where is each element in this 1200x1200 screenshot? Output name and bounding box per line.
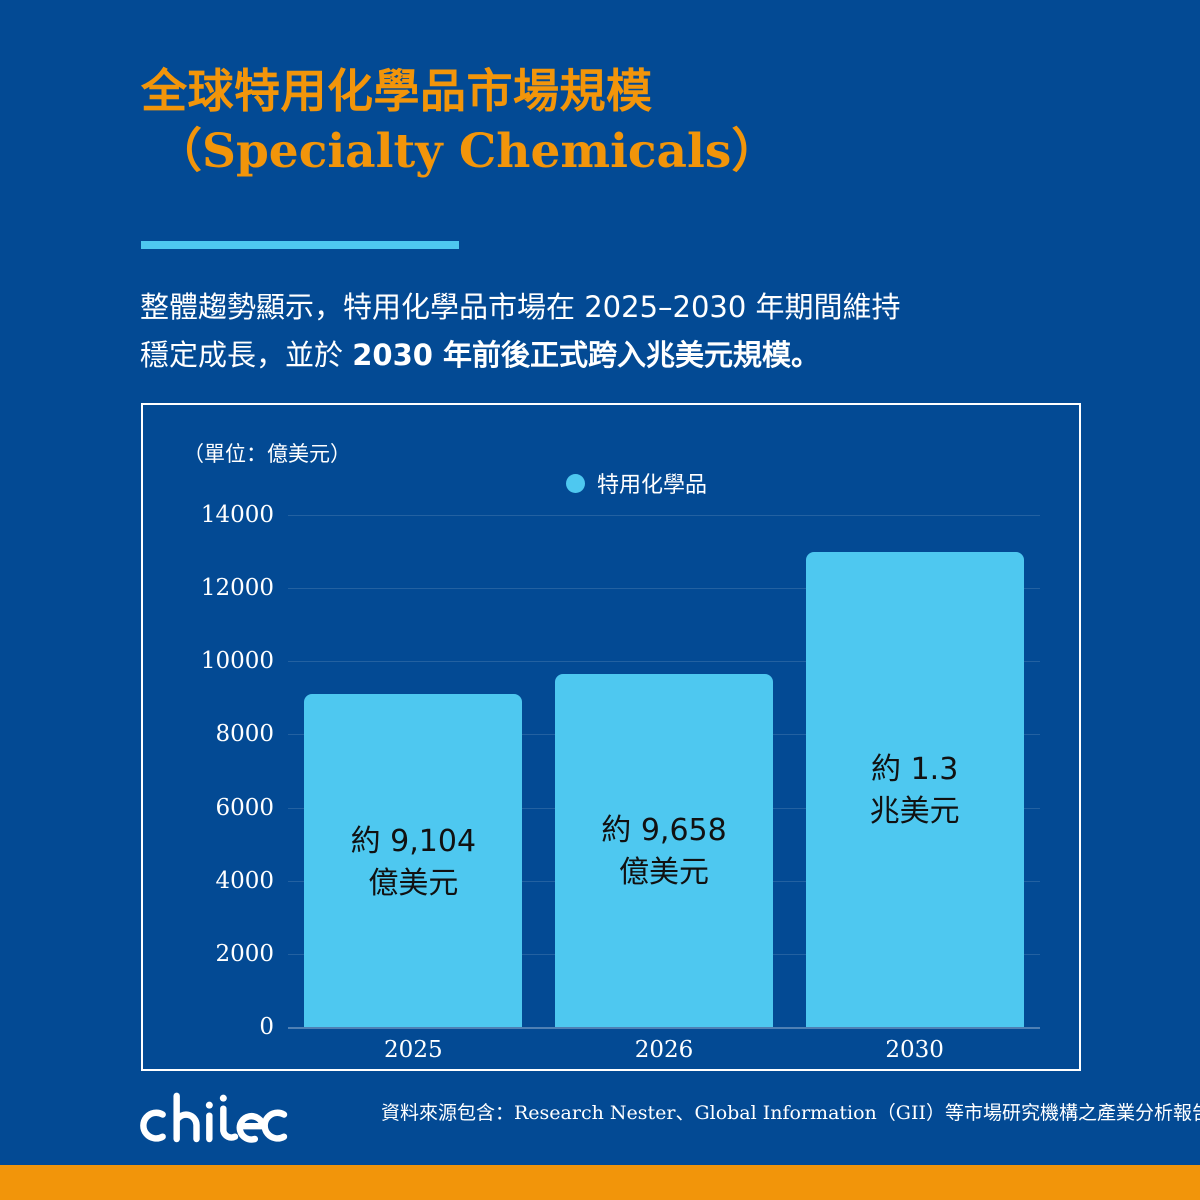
title-accent-rule	[141, 241, 459, 249]
y-axis-tick-label: 0	[259, 1014, 274, 1040]
y-axis-tick-label: 14000	[201, 502, 274, 528]
chart-bar-value-label: 約 9,658 億美元	[555, 810, 773, 894]
x-axis-tick-label: 2030	[806, 1037, 1024, 1063]
chart-legend: 特用化學品	[566, 467, 707, 499]
chart-card: （單位：億美元） 特用化學品 0200040006000800010000120…	[141, 403, 1081, 1071]
y-axis-tick-label: 4000	[215, 868, 274, 894]
page-title-en: （Specialty Chemicals）	[141, 120, 1121, 184]
y-axis-tick-label: 10000	[201, 648, 274, 674]
footer: 資料來源包含：Research Nester、Global Informatio…	[0, 1078, 1200, 1166]
chart-unit-label: （單位：億美元）	[183, 438, 351, 468]
chart-bar-group[interactable]: 約 9,104 億美元2025	[304, 515, 522, 1027]
y-axis-tick-label: 12000	[201, 575, 274, 601]
y-axis-tick-label: 2000	[215, 941, 274, 967]
bottom-accent-bar	[0, 1165, 1200, 1200]
chart-bar-value-label: 約 1.3 兆美元	[806, 749, 1024, 833]
x-axis-tick-label: 2026	[555, 1037, 773, 1063]
lead-line-1: 整體趨勢顯示，特用化學品市場在 2025–2030 年期間維持	[140, 283, 1080, 331]
legend-label: 特用化學品	[597, 467, 707, 499]
chitec-logo	[138, 1090, 290, 1146]
x-axis-tick-label: 2025	[304, 1037, 522, 1063]
chart-bar-group[interactable]: 約 1.3 兆美元2030	[806, 515, 1024, 1027]
source-note: 資料來源包含：Research Nester、Global Informatio…	[381, 1098, 1200, 1125]
chart-bar-value-label: 約 9,104 億美元	[304, 821, 522, 905]
legend-swatch-icon	[566, 474, 585, 493]
chart-bars: 約 9,104 億美元2025約 9,658 億美元2026約 1.3 兆美元2…	[288, 515, 1040, 1027]
lead-line-2: 穩定成長，並於 2030 年前後正式跨入兆美元規模。	[140, 331, 1080, 379]
chart-plot-area: 02000400060008000100001200014000 約 9,104…	[288, 515, 1040, 1027]
y-axis-tick-label: 8000	[215, 721, 274, 747]
chart-bar-group[interactable]: 約 9,658 億美元2026	[555, 515, 773, 1027]
page-title: 全球特用化學品市場規模 （Specialty Chemicals）	[141, 62, 1121, 184]
lead-line-2-prefix: 穩定成長，並於	[140, 338, 352, 372]
chart-axis-line	[288, 1027, 1040, 1029]
infographic-page: 全球特用化學品市場規模 （Specialty Chemicals） 整體趨勢顯示…	[0, 0, 1200, 1200]
lead-paragraph: 整體趨勢顯示，特用化學品市場在 2025–2030 年期間維持 穩定成長，並於 …	[140, 283, 1080, 379]
lead-line-2-emphasis: 2030 年前後正式跨入兆美元規模。	[352, 338, 820, 372]
y-axis-tick-label: 6000	[215, 795, 274, 821]
page-title-zh: 全球特用化學品市場規模	[141, 62, 1121, 120]
